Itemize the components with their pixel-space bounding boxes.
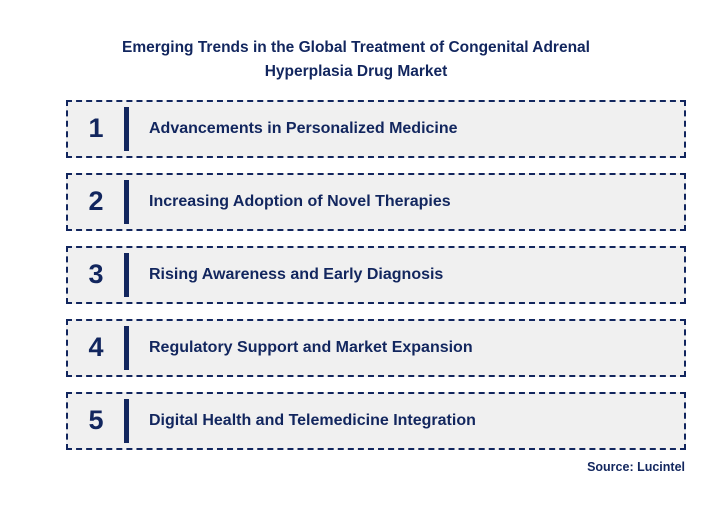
page-title-line-1: Emerging Trends in the Global Treatment … — [106, 36, 606, 60]
trend-row-2[interactable]: 2 Increasing Adoption of Novel Therapies — [66, 173, 686, 231]
infographic-container: Emerging Trends in the Global Treatment … — [0, 0, 712, 521]
trend-row-3[interactable]: 3 Rising Awareness and Early Diagnosis — [66, 246, 686, 304]
page-title: Emerging Trends in the Global Treatment … — [106, 36, 606, 84]
trend-label-4: Regulatory Support and Market Expansion — [129, 338, 684, 358]
trend-label-1: Advancements in Personalized Medicine — [129, 119, 684, 139]
source-attribution: Source: Lucintel — [587, 460, 685, 474]
trend-row-4[interactable]: 4 Regulatory Support and Market Expansio… — [66, 319, 686, 377]
trend-number-1: 1 — [68, 115, 124, 144]
trend-number-4: 4 — [68, 334, 124, 363]
trend-row-5[interactable]: 5 Digital Health and Telemedicine Integr… — [66, 392, 686, 450]
page-title-line-2: Hyperplasia Drug Market — [106, 60, 606, 84]
trend-row-1[interactable]: 1 Advancements in Personalized Medicine — [66, 100, 686, 158]
trend-number-2: 2 — [68, 188, 124, 217]
trend-label-2: Increasing Adoption of Novel Therapies — [129, 192, 684, 212]
trend-list: 1 Advancements in Personalized Medicine … — [66, 100, 686, 465]
trend-number-5: 5 — [68, 407, 124, 436]
trend-label-3: Rising Awareness and Early Diagnosis — [129, 265, 684, 285]
trend-number-3: 3 — [68, 261, 124, 290]
trend-label-5: Digital Health and Telemedicine Integrat… — [129, 411, 684, 431]
